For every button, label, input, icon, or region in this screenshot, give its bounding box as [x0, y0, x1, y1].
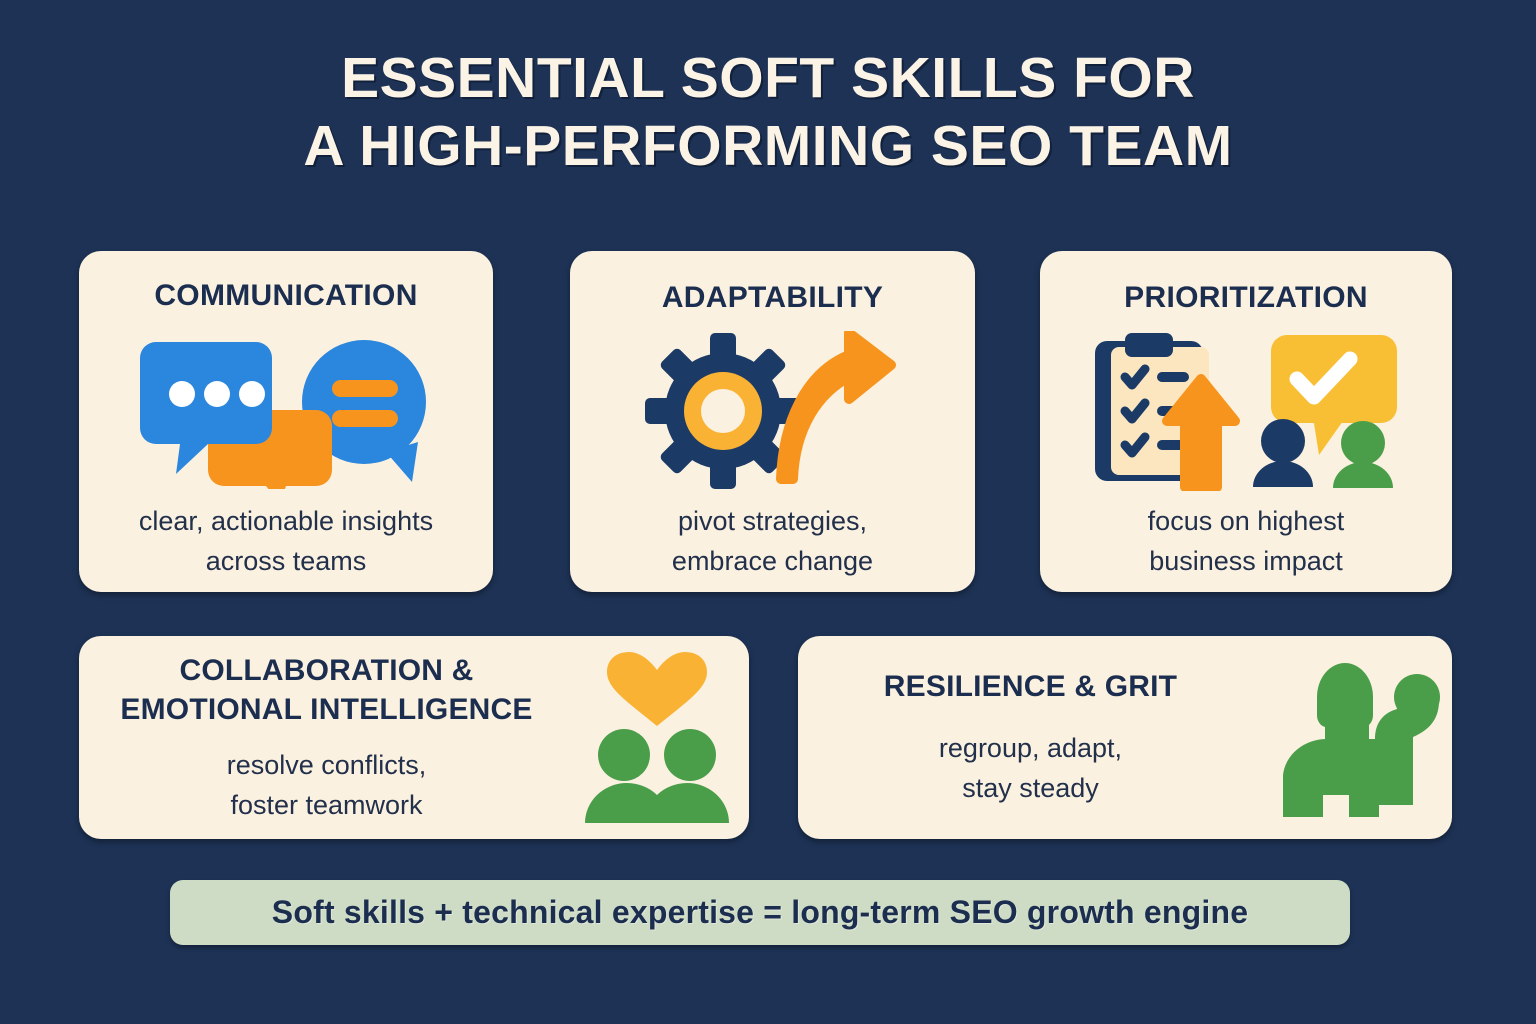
card-resilience: RESILIENCE & GRIT regroup, adapt, stay s… — [798, 636, 1452, 839]
card-resilience-body-line-2: stay steady — [798, 768, 1263, 808]
card-communication-body-line-1: clear, actionable insights — [79, 501, 493, 541]
heart-people-icon — [564, 650, 749, 825]
card-collaboration-body: resolve conflicts, foster teamwork — [89, 745, 564, 825]
card-prioritization-body: focus on highest business impact — [1040, 501, 1452, 581]
card-resilience-body-line-1: regroup, adapt, — [798, 728, 1263, 768]
card-adaptability-title: ADAPTABILITY — [570, 280, 975, 316]
page-title: ESSENTIAL SOFT SKILLS FOR A HIGH-PERFORM… — [0, 44, 1536, 180]
card-communication-title: COMMUNICATION — [79, 278, 493, 314]
card-collaboration-title-line-1: COLLABORATION & — [89, 651, 564, 690]
card-resilience-title: RESILIENCE & GRIT — [798, 667, 1263, 706]
card-collaboration-title-line-2: EMOTIONAL INTELLIGENCE — [89, 690, 564, 729]
gear-arrow-icon — [570, 331, 975, 491]
card-communication-body-line-2: across teams — [79, 541, 493, 581]
card-adaptability-body-line-1: pivot strategies, — [570, 501, 975, 541]
page-title-line-2: A HIGH-PERFORMING SEO TEAM — [0, 112, 1536, 180]
card-collaboration-body-line-2: foster teamwork — [89, 785, 564, 825]
card-resilience-title-line-1: RESILIENCE & GRIT — [798, 667, 1263, 706]
footer-banner-text: Soft skills + technical expertise = long… — [272, 894, 1248, 931]
card-communication-body: clear, actionable insights across teams — [79, 501, 493, 581]
card-prioritization-title: PRIORITIZATION — [1040, 280, 1452, 316]
page-title-line-1: ESSENTIAL SOFT SKILLS FOR — [0, 44, 1536, 112]
card-prioritization-body-line-1: focus on highest — [1040, 501, 1452, 541]
clipboard-checklist-icon — [1040, 331, 1452, 491]
card-collaboration-title: COLLABORATION & EMOTIONAL INTELLIGENCE — [89, 651, 564, 729]
footer-banner: Soft skills + technical expertise = long… — [170, 880, 1350, 945]
speech-bubbles-icon — [79, 331, 493, 491]
card-adaptability: ADAPTABILITY — [570, 251, 975, 592]
flexing-arm-icon — [1267, 655, 1452, 820]
card-prioritization-body-line-2: business impact — [1040, 541, 1452, 581]
card-resilience-body: regroup, adapt, stay steady — [798, 728, 1263, 808]
infographic-page: ESSENTIAL SOFT SKILLS FOR A HIGH-PERFORM… — [0, 0, 1536, 1024]
card-prioritization: PRIORITIZATION — [1040, 251, 1452, 592]
card-collaboration-body-line-1: resolve conflicts, — [89, 745, 564, 785]
card-collaboration: COLLABORATION & EMOTIONAL INTELLIGENCE r… — [79, 636, 749, 839]
card-adaptability-body-line-2: embrace change — [570, 541, 975, 581]
card-communication: COMMUNICATION clear, actionable insights… — [79, 251, 493, 592]
card-adaptability-body: pivot strategies, embrace change — [570, 501, 975, 581]
